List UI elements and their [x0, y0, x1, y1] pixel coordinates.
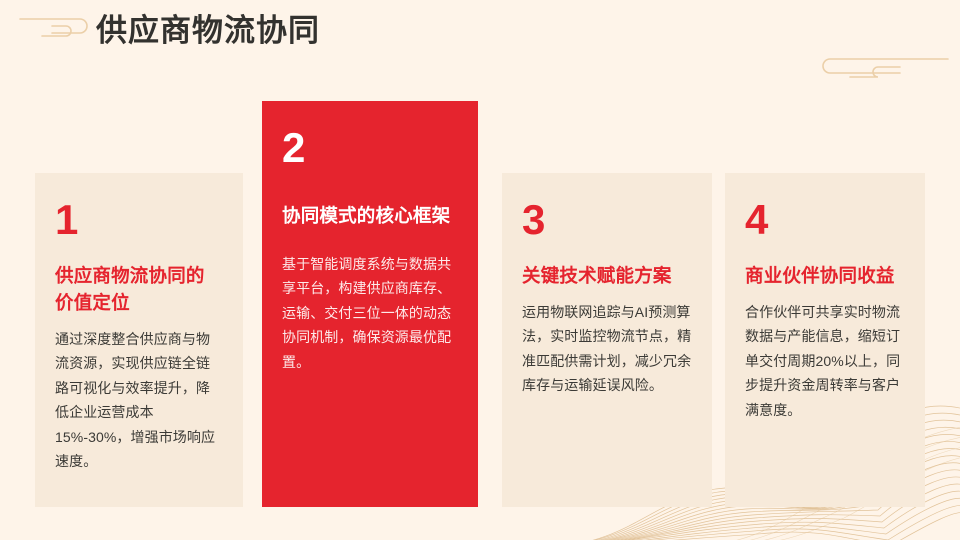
card-1-heading: 供应商物流协同的价值定位 [55, 263, 223, 317]
slide-canvas: 供应商物流协同 1 供应商物流协同的价值定位 通过深度整合供应商与物流资源，实现… [0, 0, 960, 540]
card-2-heading: 协同模式的核心框架 [282, 203, 458, 230]
card-2-body: 基于智能调度系统与数据共享平台，构建供应商库存、运输、交付三位一体的动态协同机制… [282, 252, 458, 375]
card-3-heading: 关键技术赋能方案 [522, 263, 692, 290]
card-3-number: 3 [522, 199, 692, 241]
card-3[interactable]: 3 关键技术赋能方案 运用物联网追踪与AI预测算法，实时监控物流节点，精准匹配供… [502, 173, 712, 507]
cards-row: 1 供应商物流协同的价值定位 通过深度整合供应商与物流资源，实现供应链全链路可视… [0, 0, 960, 540]
card-4-heading: 商业伙伴协同收益 [745, 263, 905, 290]
card-3-body: 运用物联网追踪与AI预测算法，实时监控物流节点，精准匹配供需计划，减少冗余库存与… [522, 300, 692, 398]
card-1[interactable]: 1 供应商物流协同的价值定位 通过深度整合供应商与物流资源，实现供应链全链路可视… [35, 173, 243, 507]
card-2-number: 2 [282, 127, 458, 169]
card-1-number: 1 [55, 199, 223, 241]
card-1-body: 通过深度整合供应商与物流资源，实现供应链全链路可视化与效率提升，降低企业运营成本… [55, 327, 223, 474]
card-4-number: 4 [745, 199, 905, 241]
card-2[interactable]: 2 协同模式的核心框架 基于智能调度系统与数据共享平台，构建供应商库存、运输、交… [262, 101, 478, 507]
card-4-body: 合作伙伴可共享实时物流数据与产能信息，缩短订单交付周期20%以上，同步提升资金周… [745, 300, 905, 423]
card-4[interactable]: 4 商业伙伴协同收益 合作伙伴可共享实时物流数据与产能信息，缩短订单交付周期20… [725, 173, 925, 507]
